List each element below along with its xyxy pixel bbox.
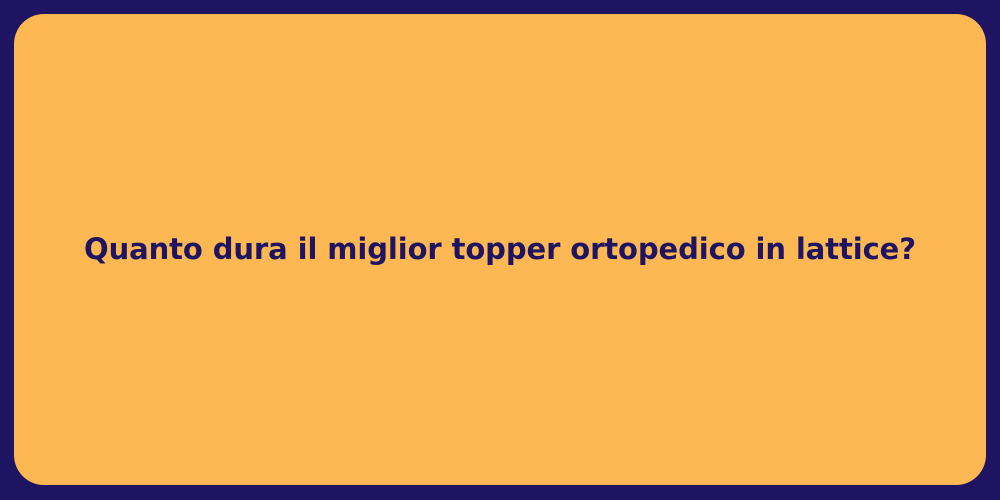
banner-card: Quanto dura il miglior topper ortopedico…	[14, 14, 986, 485]
headline-text: Quanto dura il miglior topper ortopedico…	[84, 231, 916, 267]
banner-frame: Quanto dura il miglior topper ortopedico…	[0, 0, 1000, 500]
